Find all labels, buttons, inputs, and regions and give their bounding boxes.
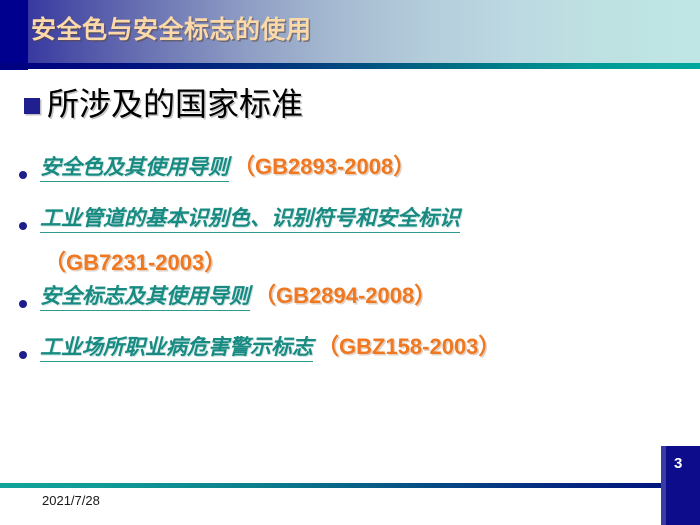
standard-code: （GBZ158-2003）: [317, 334, 500, 359]
round-bullet-icon: [19, 351, 27, 359]
list-item: 安全标志及其使用导则（GB2894-2008）: [0, 281, 700, 329]
standard-name-link[interactable]: 安全色及其使用导则: [40, 154, 229, 182]
list-item: 工业场所职业病危害警示标志（GBZ158-2003）: [0, 332, 700, 380]
header-left-accent-block: [0, 0, 28, 70]
square-bullet-icon: [24, 98, 40, 114]
standards-list: 安全色及其使用导则（GB2893-2008） 工业管道的基本识别色、识别符号和安…: [0, 152, 700, 383]
round-bullet-icon: [19, 222, 27, 230]
section-heading-label: 所涉及的国家标准: [47, 84, 303, 124]
page-number: 3: [674, 455, 682, 473]
header-gradient-underline: [0, 63, 700, 69]
section-heading: 所涉及的国家标准: [24, 84, 303, 124]
standard-code: （GB2893-2008）: [233, 154, 415, 179]
standard-code: （GB7231-2003）: [40, 248, 700, 278]
page-number-block: 3: [661, 446, 700, 525]
footer-date: 2021/7/28: [42, 492, 100, 510]
presentation-slide: 安全色与安全标志的使用 所涉及的国家标准 安全色及其使用导则（GB2893-20…: [0, 0, 700, 525]
round-bullet-icon: [19, 171, 27, 179]
round-bullet-icon: [19, 300, 27, 308]
list-item: 工业管道的基本识别色、识别符号和安全标识 （GB7231-2003）: [0, 203, 700, 278]
slide-title: 安全色与安全标志的使用: [31, 13, 312, 47]
footer-divider-rule: [0, 483, 672, 488]
standard-code: （GB2894-2008）: [254, 283, 436, 308]
standard-name-link[interactable]: 工业管道的基本识别色、识别符号和安全标识: [40, 205, 460, 233]
standard-name-link[interactable]: 工业场所职业病危害警示标志: [40, 334, 313, 362]
standard-name-link[interactable]: 安全标志及其使用导则: [40, 283, 250, 311]
page-number-edge-accent: [661, 446, 666, 525]
list-item: 安全色及其使用导则（GB2893-2008）: [0, 152, 700, 200]
